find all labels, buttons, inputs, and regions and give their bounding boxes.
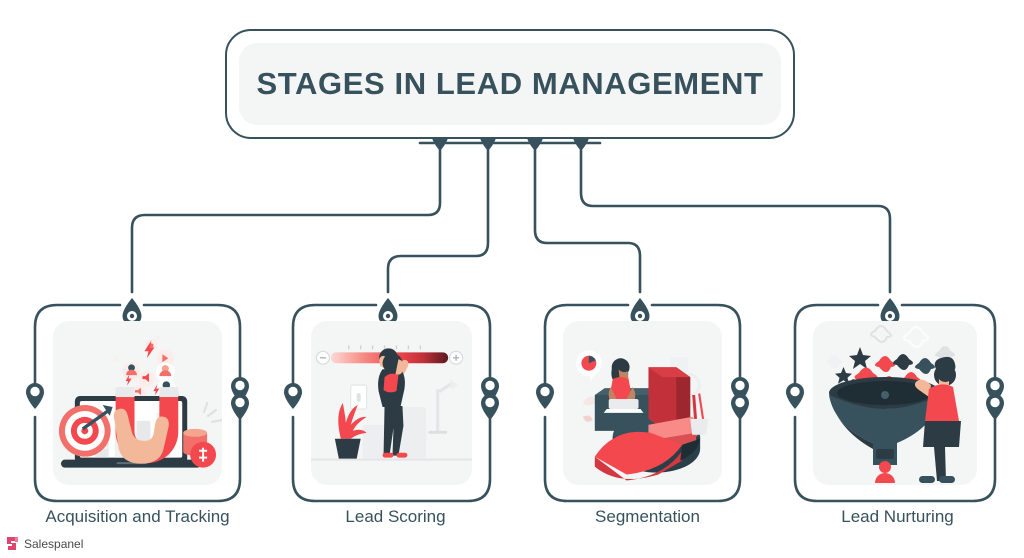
stage-card-3-label: Segmentation bbox=[505, 507, 790, 527]
stage-card-2-illustration bbox=[311, 321, 472, 485]
connector-path-2 bbox=[388, 150, 488, 292]
page-title-inner: STAGES IN LEAD MANAGEMENT bbox=[239, 43, 781, 125]
stage-card-3-illustration bbox=[563, 321, 722, 485]
connector-path-3 bbox=[535, 150, 640, 292]
speech-bubble-pie-icon bbox=[576, 350, 602, 381]
brand-name: Salespanel bbox=[24, 537, 83, 551]
pencil-cup-icon bbox=[690, 393, 708, 435]
laptop-magnet-target-leads-icon bbox=[53, 321, 222, 485]
connector-path-4 bbox=[581, 150, 890, 292]
3d-exploded-pie-chart-icon bbox=[563, 321, 722, 485]
salespanel-logo-icon bbox=[6, 536, 19, 551]
stage-card-3[interactable]: Segmentation bbox=[545, 305, 740, 501]
stage-card-1-label: Acquisition and Tracking bbox=[0, 507, 280, 527]
connector-path-1 bbox=[132, 150, 440, 292]
page-title: STAGES IN LEAD MANAGEMENT bbox=[257, 66, 764, 102]
stage-card-1[interactable]: Acquisition and Tracking bbox=[35, 305, 240, 501]
stage-card-4-label: Lead Nurturing bbox=[755, 507, 1024, 527]
person-adjusting-score-slider-icon bbox=[311, 321, 472, 485]
brand-logo[interactable]: Salespanel bbox=[6, 536, 83, 551]
coins-icon bbox=[183, 403, 222, 468]
funnel-collecting-engagement-icon bbox=[813, 321, 977, 485]
stage-card-1-illustration bbox=[53, 321, 222, 485]
infographic-canvas: STAGES IN LEAD MANAGEMENT bbox=[0, 0, 1024, 558]
stage-card-4-illustration bbox=[813, 321, 977, 485]
page-title-box: STAGES IN LEAD MANAGEMENT bbox=[225, 29, 795, 139]
stage-card-2-label: Lead Scoring bbox=[253, 507, 538, 527]
stage-card-2[interactable]: Lead Scoring bbox=[293, 305, 490, 501]
stage-card-4[interactable]: Lead Nurturing bbox=[795, 305, 995, 501]
